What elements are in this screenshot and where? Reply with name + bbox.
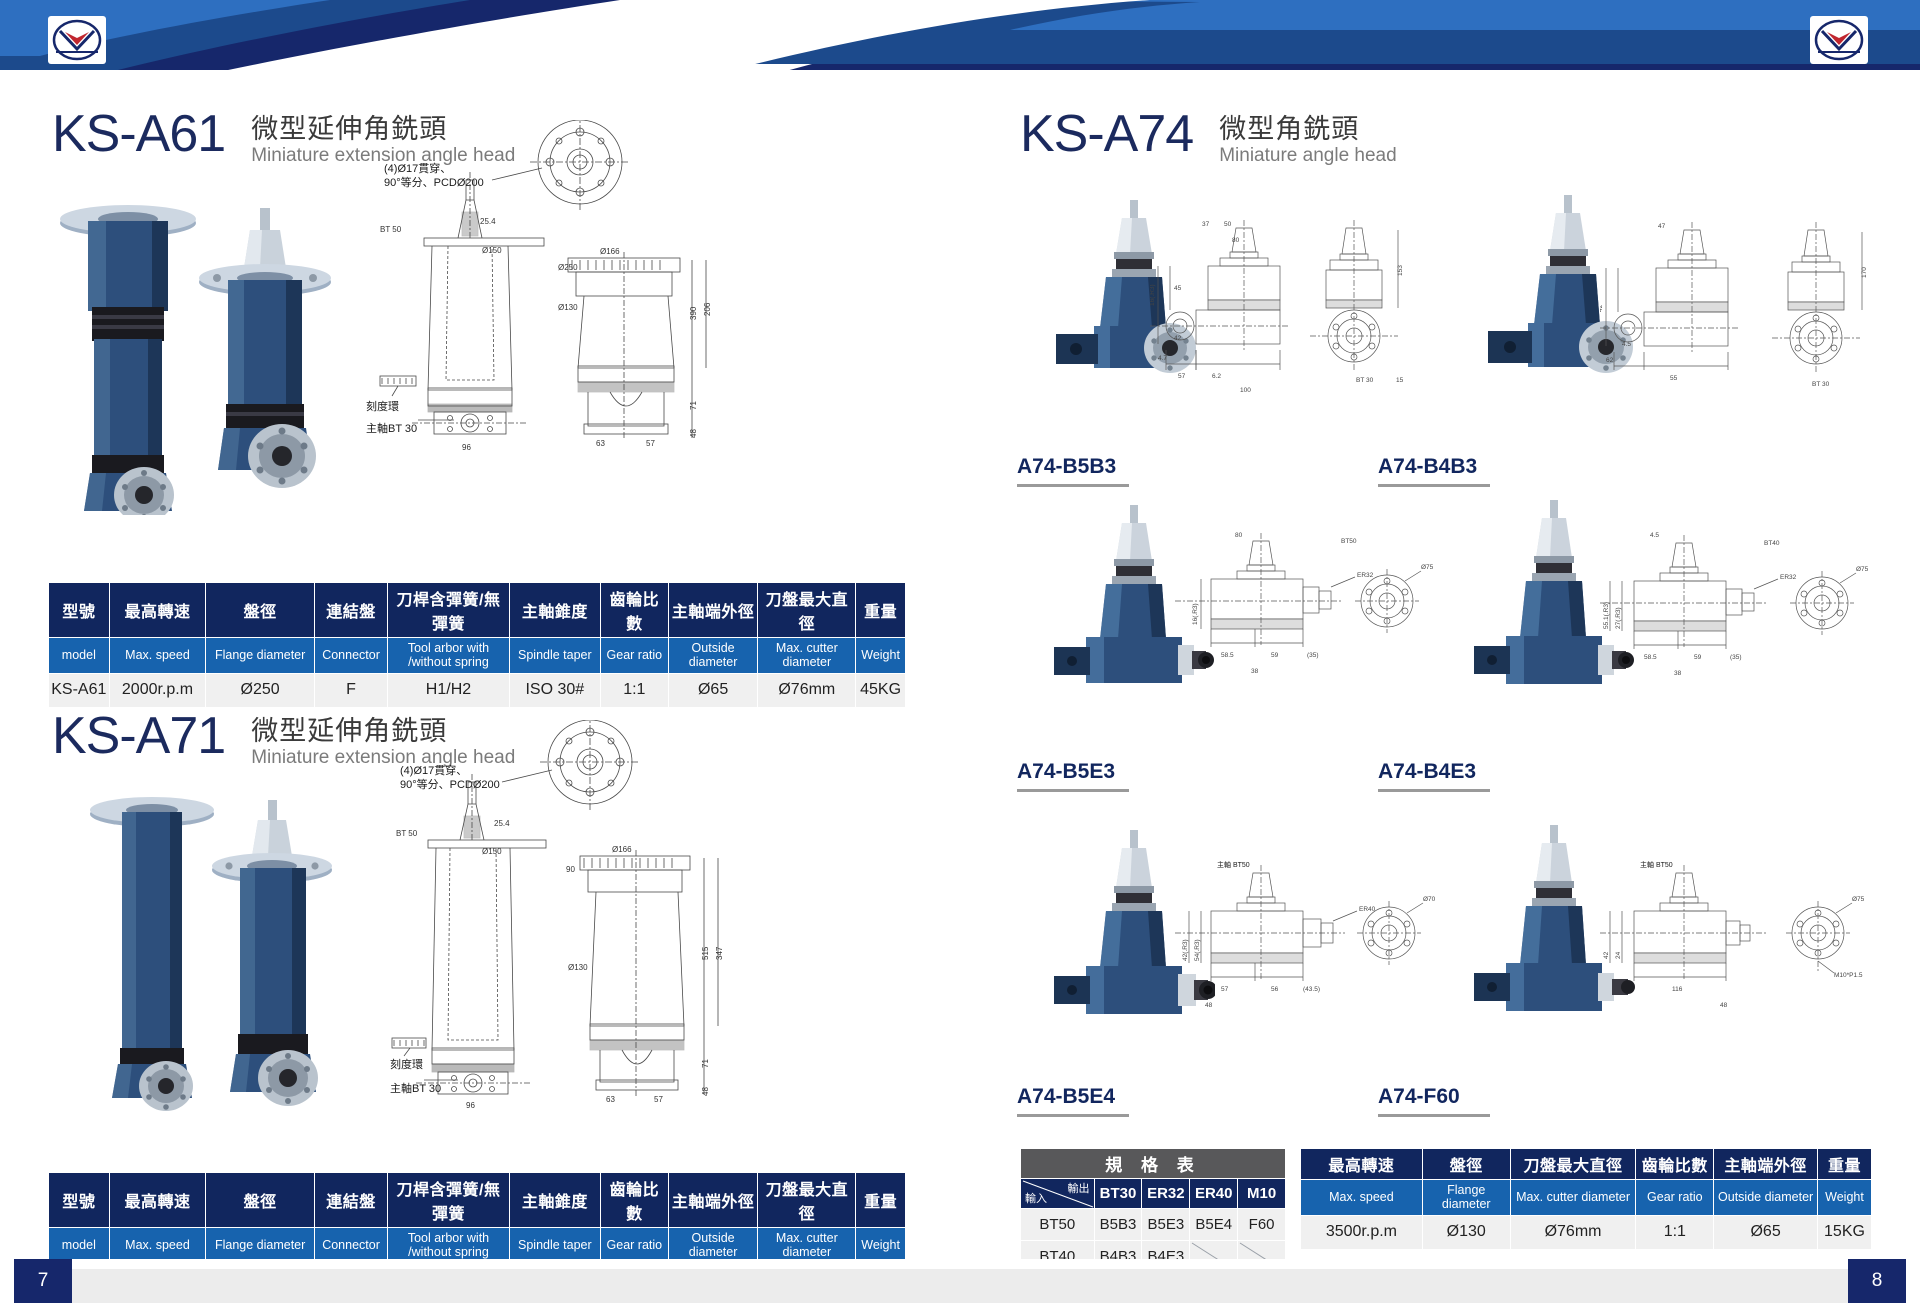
drawing-dim-45: 45 (1174, 285, 1182, 292)
td-gear: 1:1 (1636, 1215, 1714, 1249)
drawing-dim-62: 6.2 (1212, 373, 1221, 380)
th-cn-connector: 連結盤 (314, 1173, 387, 1228)
technical-drawing-a74-f60: 主軸 BT50 42 24 116 48 Ø75 M10*P1.5 (1600, 855, 1880, 1085)
td-model: KS-A61 (49, 673, 110, 707)
product-label-a74-b4e3: A74-B4E3 (1378, 760, 1490, 796)
drawing-dim-390: 390 (689, 306, 698, 320)
drawing-dim-48: 48 (689, 429, 698, 438)
matrix-header-row: 輸出 輸入 BT30 ER32 ER40 M10 (1021, 1179, 1286, 1209)
drawing-note-holes2: 90°等分、PCDØ200 (384, 175, 484, 189)
th-en-weight: Weight (856, 638, 906, 674)
drawing-note-holes2: 90°等分、PCDØ200 (400, 777, 500, 791)
drawing-dim-585: 58.5 (1644, 654, 1657, 661)
logo-left (48, 16, 106, 64)
th-en-taper: Spindle taper (509, 638, 600, 674)
th-cn-speed: 最高轉速 (1301, 1149, 1423, 1180)
drawing-dim-153: 153 (1397, 265, 1404, 276)
drawing-label-bt30: BT 30 (1812, 381, 1830, 388)
th-en-outside: Outside diameter (668, 638, 758, 674)
drawing-dim-35: (35) (1730, 654, 1742, 661)
product-label-a74-b5e3: A74-B5E3 (1017, 760, 1129, 796)
product-photo-a71-right (198, 800, 358, 1130)
td-connector: F (314, 673, 387, 707)
th-cn-cutter: 刀盤最大直徑 (758, 1173, 856, 1228)
td-taper: ISO 30# (509, 673, 600, 707)
th-en-flange: Flange diameter (206, 638, 315, 674)
th-cn-gear: 齒輪比數 (1636, 1149, 1714, 1180)
drawing-dim-56: 56 (1271, 986, 1279, 993)
drawing-label-bt40: BT40 (1764, 540, 1780, 547)
drawing-dim-57: 57 (1178, 373, 1186, 380)
th-en-weight: Weight (856, 1228, 906, 1264)
th-cn-outside: 主軸端外徑 (668, 583, 758, 638)
th-cn-model: 型號 (49, 1173, 110, 1228)
th-en-outside: Outside diameter (668, 1228, 758, 1264)
drawing-dim-38: 38 (1674, 670, 1682, 677)
th-cn-weight: 重量 (856, 1173, 906, 1228)
td-arbor: H1/H2 (388, 673, 510, 707)
drawing-dim-27r3: 27(.R3) (1615, 607, 1622, 629)
matrix-cell-b5b3: B5B3 (1094, 1209, 1142, 1241)
td-gear: 1:1 (600, 673, 668, 707)
drawing-dim-585: 58.5 (1221, 652, 1234, 659)
th-cn-outside: 主軸端外徑 (668, 1173, 758, 1228)
drawing-label-bt50: BT50 (1341, 538, 1357, 545)
footer-bar (0, 1259, 1920, 1311)
drawing-note-spindle: 主軸BT 30 (390, 1081, 441, 1095)
product-photo-a61-right (182, 208, 357, 528)
matrix-col-bt30: BT30 (1094, 1179, 1142, 1209)
drawing-dim-bt30: BT 30 (1356, 377, 1374, 384)
drawing-note-scale-ring: 刻度環 (366, 399, 399, 413)
drawing-dim-96: 96 (462, 443, 471, 452)
th-cn-arbor: 刀桿含彈簧/無彈簧 (388, 1173, 510, 1228)
drawing-dim-100: 100 (1240, 387, 1251, 394)
drawing-note-holes: (4)Ø17貫穿、 (400, 763, 467, 777)
drawing-dim-80: 80 (1235, 532, 1243, 539)
th-cn-arbor: 刀桿含彈簧/無彈簧 (388, 583, 510, 638)
th-en-speed: Max. speed (109, 1228, 206, 1264)
drawing-dim-45: 4.5 (1622, 341, 1631, 348)
drawing-dim-71: 71 (701, 1059, 710, 1068)
td-weight: 15KG (1818, 1215, 1872, 1249)
drawing-dim-254: 25.4 (494, 819, 510, 828)
table-row: KS-A61 2000r.p.m Ø250 F H1/H2 ISO 30# 1:… (49, 673, 906, 707)
th-cn-cutter: 刀盤最大直徑 (758, 583, 856, 638)
th-en-model: model (49, 1228, 110, 1264)
th-cn-outside: 主軸端外徑 (1714, 1149, 1818, 1180)
drawing-dim-15: 15 (1396, 377, 1404, 384)
drawing-dim-166: Ø166 (600, 247, 620, 256)
matrix-corner-input: 輸入 (1025, 1190, 1047, 1206)
drawing-dim-47: 4.7 (1158, 355, 1167, 362)
page-number-left: 7 (14, 1259, 72, 1303)
th-en-connector: Connector (314, 1228, 387, 1264)
drawing-dim-551r3: 55.1(.R3) (1603, 602, 1610, 629)
drawing-label-er40: ER40 (1359, 906, 1376, 913)
drawing-label-spindle-bt50: 主軸 BT50 (1217, 860, 1250, 869)
section-title-en: Miniature angle head (1219, 145, 1396, 168)
drawing-dim-47: 47 (1658, 223, 1666, 230)
drawing-dim-96: 96 (466, 1101, 475, 1110)
technical-drawing-a74-b5e4: 主軸 BT50 42(.R3) 54(.R3) ER40 57 56 (43.5… (1175, 855, 1435, 1085)
th-en-flange: Flange diameter (1422, 1180, 1510, 1216)
th-cn-speed: 最高轉速 (109, 1173, 206, 1228)
drawing-label-bt50: BT 50 (380, 225, 402, 234)
page-number-right: 8 (1848, 1259, 1906, 1303)
drawing-dim-59: 59 (1271, 652, 1279, 659)
td-speed: 2000r.p.m (109, 673, 206, 707)
section-code: KS-A61 (52, 108, 225, 160)
matrix-col-er32: ER32 (1142, 1179, 1190, 1209)
matrix-table-specifications: 規 格 表 輸出 輸入 BT30 ER32 ER40 M10 BT50 B5B3… (1020, 1148, 1286, 1273)
logo-right (1810, 16, 1868, 64)
drawing-dim-70: Ø70 (1423, 896, 1435, 903)
td-flange: Ø130 (1422, 1215, 1510, 1249)
th-cn-cutter: 刀盤最大直徑 (1510, 1149, 1636, 1180)
drawing-dim-75: Ø75 (1856, 566, 1869, 573)
drawing-dim-57: 57 (646, 439, 655, 448)
matrix-corner-output: 輸出 (1068, 1180, 1090, 1196)
table-header-en-row: Max. speed Flange diameter Max. cutter d… (1301, 1180, 1872, 1216)
drawing-dim-71: 71 (689, 401, 698, 410)
drawing-dim-42: 42 (1174, 335, 1182, 342)
matrix-col-m10: M10 (1238, 1179, 1286, 1209)
drawing-dim-16r3: 16(.R3) (1192, 603, 1199, 625)
table-header-cn-row: 最高轉速 盤徑 刀盤最大直徑 齒輪比數 主軸端外徑 重量 (1301, 1149, 1872, 1180)
drawing-dim-48: 48 (1205, 1002, 1213, 1009)
matrix-corner-cell: 輸出 輸入 (1021, 1179, 1095, 1209)
th-en-cutter: Max. cutter diameter (758, 1228, 856, 1264)
th-en-arbor: Tool arbor with /without spring (388, 638, 510, 674)
drawing-dim-116: 116 (1672, 986, 1683, 993)
spec-table-ks-a74: 最高轉速 盤徑 刀盤最大直徑 齒輪比數 主軸端外徑 重量 Max. speed … (1300, 1148, 1872, 1250)
section-title-cn: 微型角銑頭 (1219, 114, 1396, 145)
th-cn-speed: 最高轉速 (109, 583, 206, 638)
catalog-page: KS-A61 微型延伸角銑頭 Miniature extension angle… (0, 0, 1920, 1311)
technical-drawing-a74-b5e3: 80 BT50 16(.R3) ER32 58.5 59 (35) 38 Ø75 (1175, 525, 1435, 755)
technical-drawing-a74-b5b3: 37 50 80 16(.R3) 45 42 4.7 57 6.2 100 (1150, 220, 1430, 450)
td-outside: Ø65 (668, 673, 758, 707)
drawing-dim-37: 37 (1202, 221, 1210, 228)
section-code: KS-A71 (52, 710, 225, 762)
th-cn-flange: 盤徑 (1422, 1149, 1510, 1180)
drawing-dim-45: 4.5 (1650, 532, 1659, 539)
drawing-dim-54r3: 54(.R3) (1194, 939, 1201, 961)
drawing-dim-515: 515 (701, 946, 710, 960)
th-en-cutter: Max. cutter diameter (1510, 1180, 1636, 1216)
td-outside: Ø65 (1714, 1215, 1818, 1249)
technical-drawing-a74-b4b3: 47 42 4.5 62 55 170 BT (1600, 220, 1890, 450)
drawing-dim-flange: Ø150 (482, 246, 502, 255)
section-header-ks-a74: KS-A74 微型角銑頭 Miniature angle head (1020, 108, 1397, 168)
product-label-a74-f60: A74-F60 (1378, 1085, 1490, 1121)
th-en-taper: Spindle taper (509, 1228, 600, 1264)
drawing-dim-48: 48 (1720, 1002, 1728, 1009)
drawing-dim-50: 50 (1224, 221, 1232, 228)
table-header-en-row: model Max. speed Flange diameter Connect… (49, 1228, 906, 1264)
technical-drawing-a74-b4e3: 4.5 BT40 55.1(.R3) 27(.R3) ER32 58.5 59 … (1600, 525, 1880, 755)
td-weight: 45KG (856, 673, 906, 707)
drawing-dim-130: Ø130 (568, 963, 588, 972)
th-en-weight: Weight (1818, 1180, 1872, 1216)
matrix-row-input-bt50: BT50 (1021, 1209, 1095, 1241)
drawing-dim-24: 24 (1615, 951, 1622, 959)
product-label-a74-b5b3: A74-B5B3 (1017, 455, 1129, 491)
drawing-dim-flange: Ø150 (482, 847, 502, 856)
technical-drawing-a71: (4)Ø17貫穿、 90°等分、PCDØ200 25.4 (390, 720, 740, 1140)
drawing-dim-57: 57 (654, 1095, 663, 1104)
th-en-gear: Gear ratio (600, 1228, 668, 1264)
th-en-speed: Max. speed (109, 638, 206, 674)
th-cn-flange: 盤徑 (206, 1173, 315, 1228)
drawing-dim-250: Ø250 (558, 263, 578, 272)
td-speed: 3500r.p.m (1301, 1215, 1423, 1249)
matrix-title: 規 格 表 (1021, 1149, 1286, 1179)
drawing-dim-80: 80 (1232, 237, 1240, 244)
drawing-dim-75: Ø75 (1421, 564, 1434, 571)
product-label-a74-b4b3: A74-B4B3 (1378, 455, 1490, 491)
drawing-dim-170: 170 (1861, 267, 1868, 278)
th-cn-gear: 齒輪比數 (600, 1173, 668, 1228)
td-cutter: Ø76mm (1510, 1215, 1636, 1249)
drawing-dim-166: Ø166 (612, 845, 632, 854)
drawing-dim-435: (43.5) (1303, 986, 1320, 993)
drawing-dim-206: 206 (703, 302, 712, 316)
drawing-dim-63: 63 (596, 439, 605, 448)
technical-drawing-a61: (4)Ø17貫穿、 90°等分、PCDØ200 25.4 (362, 120, 722, 540)
matrix-col-er40: ER40 (1190, 1179, 1238, 1209)
table-header-cn-row: 型號 最高轉速 盤徑 連結盤 刀桿含彈簧/無彈簧 主軸錐度 齒輪比數 主軸端外徑… (49, 583, 906, 638)
th-en-arbor: Tool arbor with /without spring (388, 1228, 510, 1264)
th-cn-weight: 重量 (1818, 1149, 1872, 1180)
th-cn-connector: 連結盤 (314, 583, 387, 638)
drawing-dim-57: 57 (1221, 986, 1229, 993)
th-cn-model: 型號 (49, 583, 110, 638)
drawing-dim-35: (35) (1307, 652, 1319, 659)
th-en-connector: Connector (314, 638, 387, 674)
drawing-dim-38: 38 (1251, 668, 1259, 675)
matrix-row-bt50: BT50 B5B3 B5E3 B5E4 F60 (1021, 1209, 1286, 1241)
drawing-dim-42r3: 42(.R3) (1182, 939, 1189, 961)
th-en-gear: Gear ratio (600, 638, 668, 674)
drawing-note-holes: (4)Ø17貫穿、 (384, 161, 451, 175)
th-en-speed: Max. speed (1301, 1180, 1423, 1216)
th-en-cutter: Max. cutter diameter (758, 638, 856, 674)
table-row: 3500r.p.m Ø130 Ø76mm 1:1 Ø65 15KG (1301, 1215, 1872, 1249)
drawing-note-spindle: 主軸BT 30 (366, 421, 417, 435)
drawing-dim-42: 42 (1600, 304, 1604, 312)
td-flange: Ø250 (206, 673, 315, 707)
matrix-cell-f60: F60 (1238, 1209, 1286, 1241)
top-banner (0, 0, 1920, 78)
th-cn-taper: 主軸錐度 (509, 583, 600, 638)
drawing-dim-48: 48 (701, 1087, 710, 1096)
drawing-dim-55: 55 (1670, 375, 1678, 382)
drawing-label-spindle-bt50: 主軸 BT50 (1640, 860, 1673, 869)
footer-strip (60, 1269, 1860, 1303)
section-code: KS-A74 (1020, 108, 1193, 160)
drawing-dim-75: Ø75 (1852, 896, 1865, 903)
drawing-note-scale-ring: 刻度環 (390, 1057, 423, 1071)
th-cn-flange: 盤徑 (206, 583, 315, 638)
drawing-dim-16r3: 16(.R3) (1150, 284, 1156, 306)
drawing-label-m10: M10*P1.5 (1834, 972, 1863, 979)
th-cn-gear: 齒輪比數 (600, 583, 668, 638)
th-en-model: model (49, 638, 110, 674)
th-en-flange: Flange diameter (206, 1228, 315, 1264)
matrix-cell-b5e4: B5E4 (1190, 1209, 1238, 1241)
drawing-dim-347: 347 (715, 946, 724, 960)
drawing-label-bt50: BT 50 (396, 829, 418, 838)
drawing-dim-63: 63 (606, 1095, 615, 1104)
drawing-label-er32: ER32 (1357, 572, 1374, 579)
th-en-outside: Outside diameter (1714, 1180, 1818, 1216)
drawing-dim-62: 62 (1606, 357, 1614, 364)
drawing-dim-42: 42 (1603, 951, 1610, 959)
th-cn-taper: 主軸錐度 (509, 1173, 600, 1228)
th-en-gear: Gear ratio (1636, 1180, 1714, 1216)
drawing-dim-254: 25.4 (480, 217, 496, 226)
th-cn-weight: 重量 (856, 583, 906, 638)
matrix-title-row: 規 格 表 (1021, 1149, 1286, 1179)
drawing-label-er32: ER32 (1780, 574, 1797, 581)
product-label-a74-b5e4: A74-B5E4 (1017, 1085, 1129, 1121)
spec-table-ks-a61: 型號 最高轉速 盤徑 連結盤 刀桿含彈簧/無彈簧 主軸錐度 齒輪比數 主軸端外徑… (48, 582, 906, 708)
drawing-dim-90: 90 (566, 865, 575, 874)
drawing-dim-59: 59 (1694, 654, 1702, 661)
td-cutter: Ø76mm (758, 673, 856, 707)
drawing-dim-130: Ø130 (558, 303, 578, 312)
table-header-en-row: model Max. speed Flange diameter Connect… (49, 638, 906, 674)
table-header-cn-row: 型號 最高轉速 盤徑 連結盤 刀桿含彈簧/無彈簧 主軸錐度 齒輪比數 主軸端外徑… (49, 1173, 906, 1228)
matrix-cell-b5e3: B5E3 (1142, 1209, 1190, 1241)
